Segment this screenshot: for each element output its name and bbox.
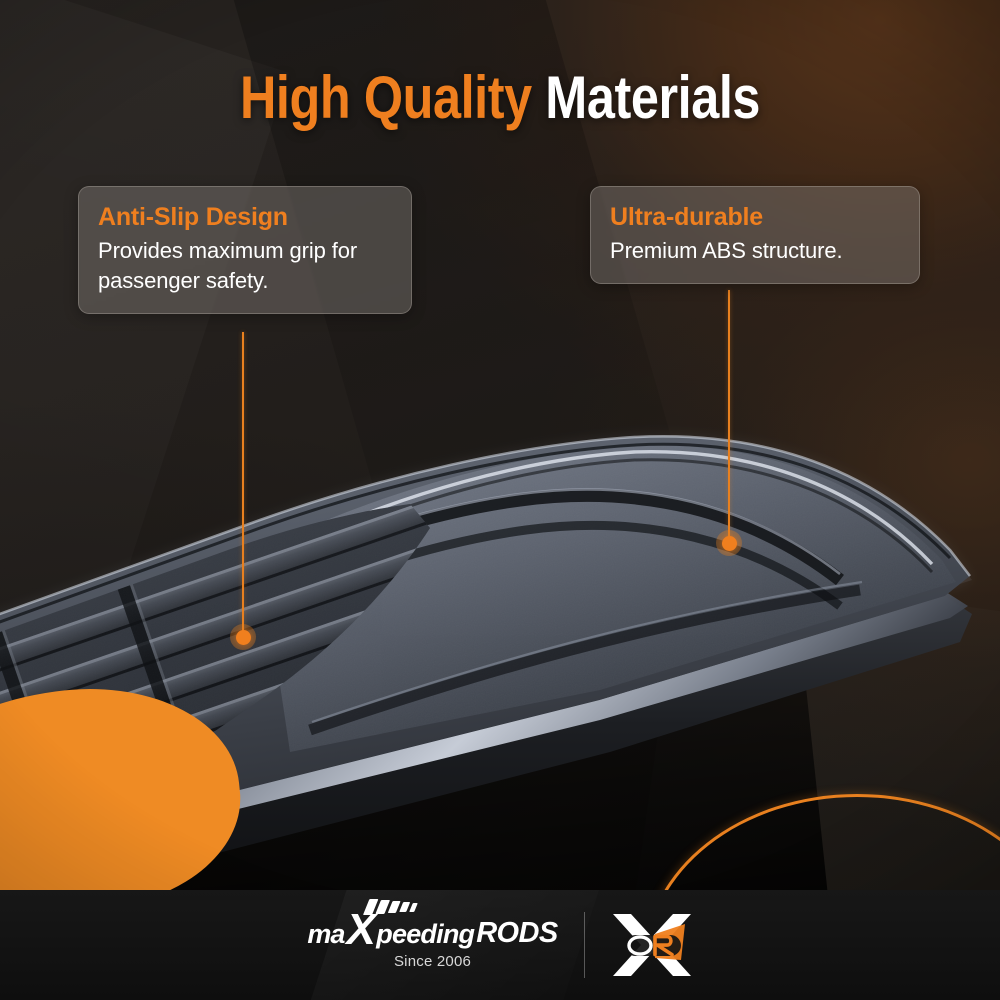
brand-text-rods: RODS xyxy=(476,919,557,948)
promo-banner: High Quality Materials Anti-Slip Design … xyxy=(0,0,1000,1000)
feature-card-anti-slip: Anti-Slip Design Provides maximum grip f… xyxy=(78,186,412,314)
brand-text-peeding: peeding xyxy=(376,921,474,948)
page-title: High Quality Materials xyxy=(80,66,920,129)
feature-card-title: Anti-Slip Design xyxy=(98,202,392,232)
brand-text-x: X xyxy=(346,912,375,948)
feature-card-ultra-durable: Ultra-durable Premium ABS structure. xyxy=(590,186,920,284)
feature-card-body: Provides maximum grip for passenger safe… xyxy=(98,236,392,296)
brand-text-ma: ma xyxy=(307,921,344,948)
title-accent-text: High Quality xyxy=(240,64,532,131)
brand-wordmark: ma X peeding RODS xyxy=(307,912,557,948)
feature-card-body: Premium ABS structure. xyxy=(610,236,900,266)
brand-logo-maxpeedingrods: ma X peeding RODS Since 2006 xyxy=(307,912,557,970)
sub-logo-letter-r: R xyxy=(611,910,623,914)
feature-card-title: Ultra-durable xyxy=(610,202,900,232)
speed-streaks-icon xyxy=(363,899,444,916)
title-plain-text: Materials xyxy=(545,64,760,131)
footer-bar: ma X peeding RODS Since 2006 xyxy=(0,890,1000,1000)
sub-brand-logo-or: O R xyxy=(611,910,693,980)
footer-divider xyxy=(584,912,585,978)
brand-x-group: X xyxy=(346,912,375,948)
brand-tagline-since: Since 2006 xyxy=(394,953,471,970)
